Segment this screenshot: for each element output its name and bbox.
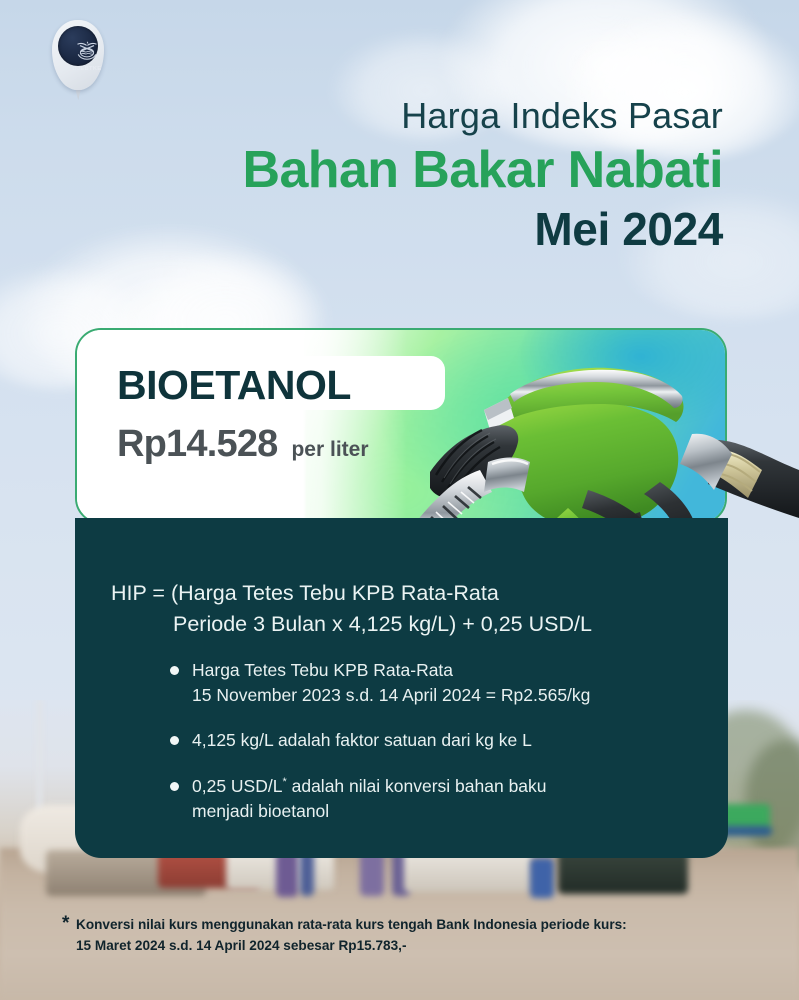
footnote-line-2: 15 Maret 2024 s.d. 14 April 2024 sebesar… (76, 938, 406, 953)
bullet-dot-icon (170, 736, 179, 745)
footnote-text: Konversi nilai kurs menggunakan rata-rat… (76, 915, 762, 956)
bullet-dot-icon (170, 666, 179, 675)
price-row: Rp14.528 per liter (117, 423, 369, 466)
page-period: Mei 2024 (243, 204, 723, 255)
blue-box (530, 858, 554, 898)
bullet-text: 4,125 kg/L adalah faktor satuan dari kg … (192, 728, 532, 753)
djebtke-logo: DJEBTKE (49, 18, 107, 102)
formula-line-2: Periode 3 Bulan x 4,125 kg/L) + 0,25 USD… (111, 609, 704, 640)
garuda-crest-icon (70, 37, 104, 62)
bullet-1-line-2: 15 November 2023 s.d. 14 April 2024 = Rp… (192, 685, 590, 705)
bullet-2-line-1: 4,125 kg/L adalah faktor satuan dari kg … (192, 730, 532, 750)
product-name: BIOETANOL (117, 362, 351, 409)
formula-line-1: HIP = (Harga Tetes Tebu KPB Rata-Rata (111, 581, 499, 605)
logo-label: DJEBTKE (58, 66, 116, 72)
page-title-block: Harga Indeks Pasar Bahan Bakar Nabati Me… (243, 96, 723, 254)
footnote: * Konversi nilai kurs menggunakan rata-r… (62, 915, 762, 956)
price-unit: per liter (291, 438, 368, 462)
bullet-3-line-1: 0,25 USD/L (192, 776, 282, 796)
bullet-text: 0,25 USD/L* adalah nilai konversi bahan … (192, 774, 547, 824)
list-item: Harga Tetes Tebu KPB Rata-Rata 15 Novemb… (170, 658, 704, 708)
logo-circle: DJEBTKE (58, 26, 98, 66)
formula-card: HIP = (Harga Tetes Tebu KPB Rata-Rata Pe… (75, 518, 728, 858)
bullet-list: Harga Tetes Tebu KPB Rata-Rata 15 Novemb… (170, 658, 704, 844)
footnote-asterisk: * (62, 913, 69, 935)
bullet-dot-icon (170, 782, 179, 791)
bullet-3-line-2: menjadi bioetanol (192, 801, 329, 821)
page-title: Bahan Bakar Nabati (243, 142, 723, 199)
formula-text: HIP = (Harga Tetes Tebu KPB Rata-Rata Pe… (111, 578, 704, 641)
page-subtitle: Harga Indeks Pasar (243, 96, 723, 136)
bullet-3-line-1-cont: adalah nilai konversi bahan baku (287, 776, 547, 796)
list-item: 0,25 USD/L* adalah nilai konversi bahan … (170, 774, 704, 824)
product-price-card: BIOETANOL Rp14.528 per liter (75, 328, 727, 524)
footnote-line-1: Konversi nilai kurs menggunakan rata-rat… (76, 917, 627, 932)
list-item: 4,125 kg/L adalah faktor satuan dari kg … (170, 728, 704, 753)
bullet-text: Harga Tetes Tebu KPB Rata-Rata 15 Novemb… (192, 658, 590, 708)
bullet-1-line-1: Harga Tetes Tebu KPB Rata-Rata (192, 660, 453, 680)
product-price: Rp14.528 (117, 423, 277, 466)
